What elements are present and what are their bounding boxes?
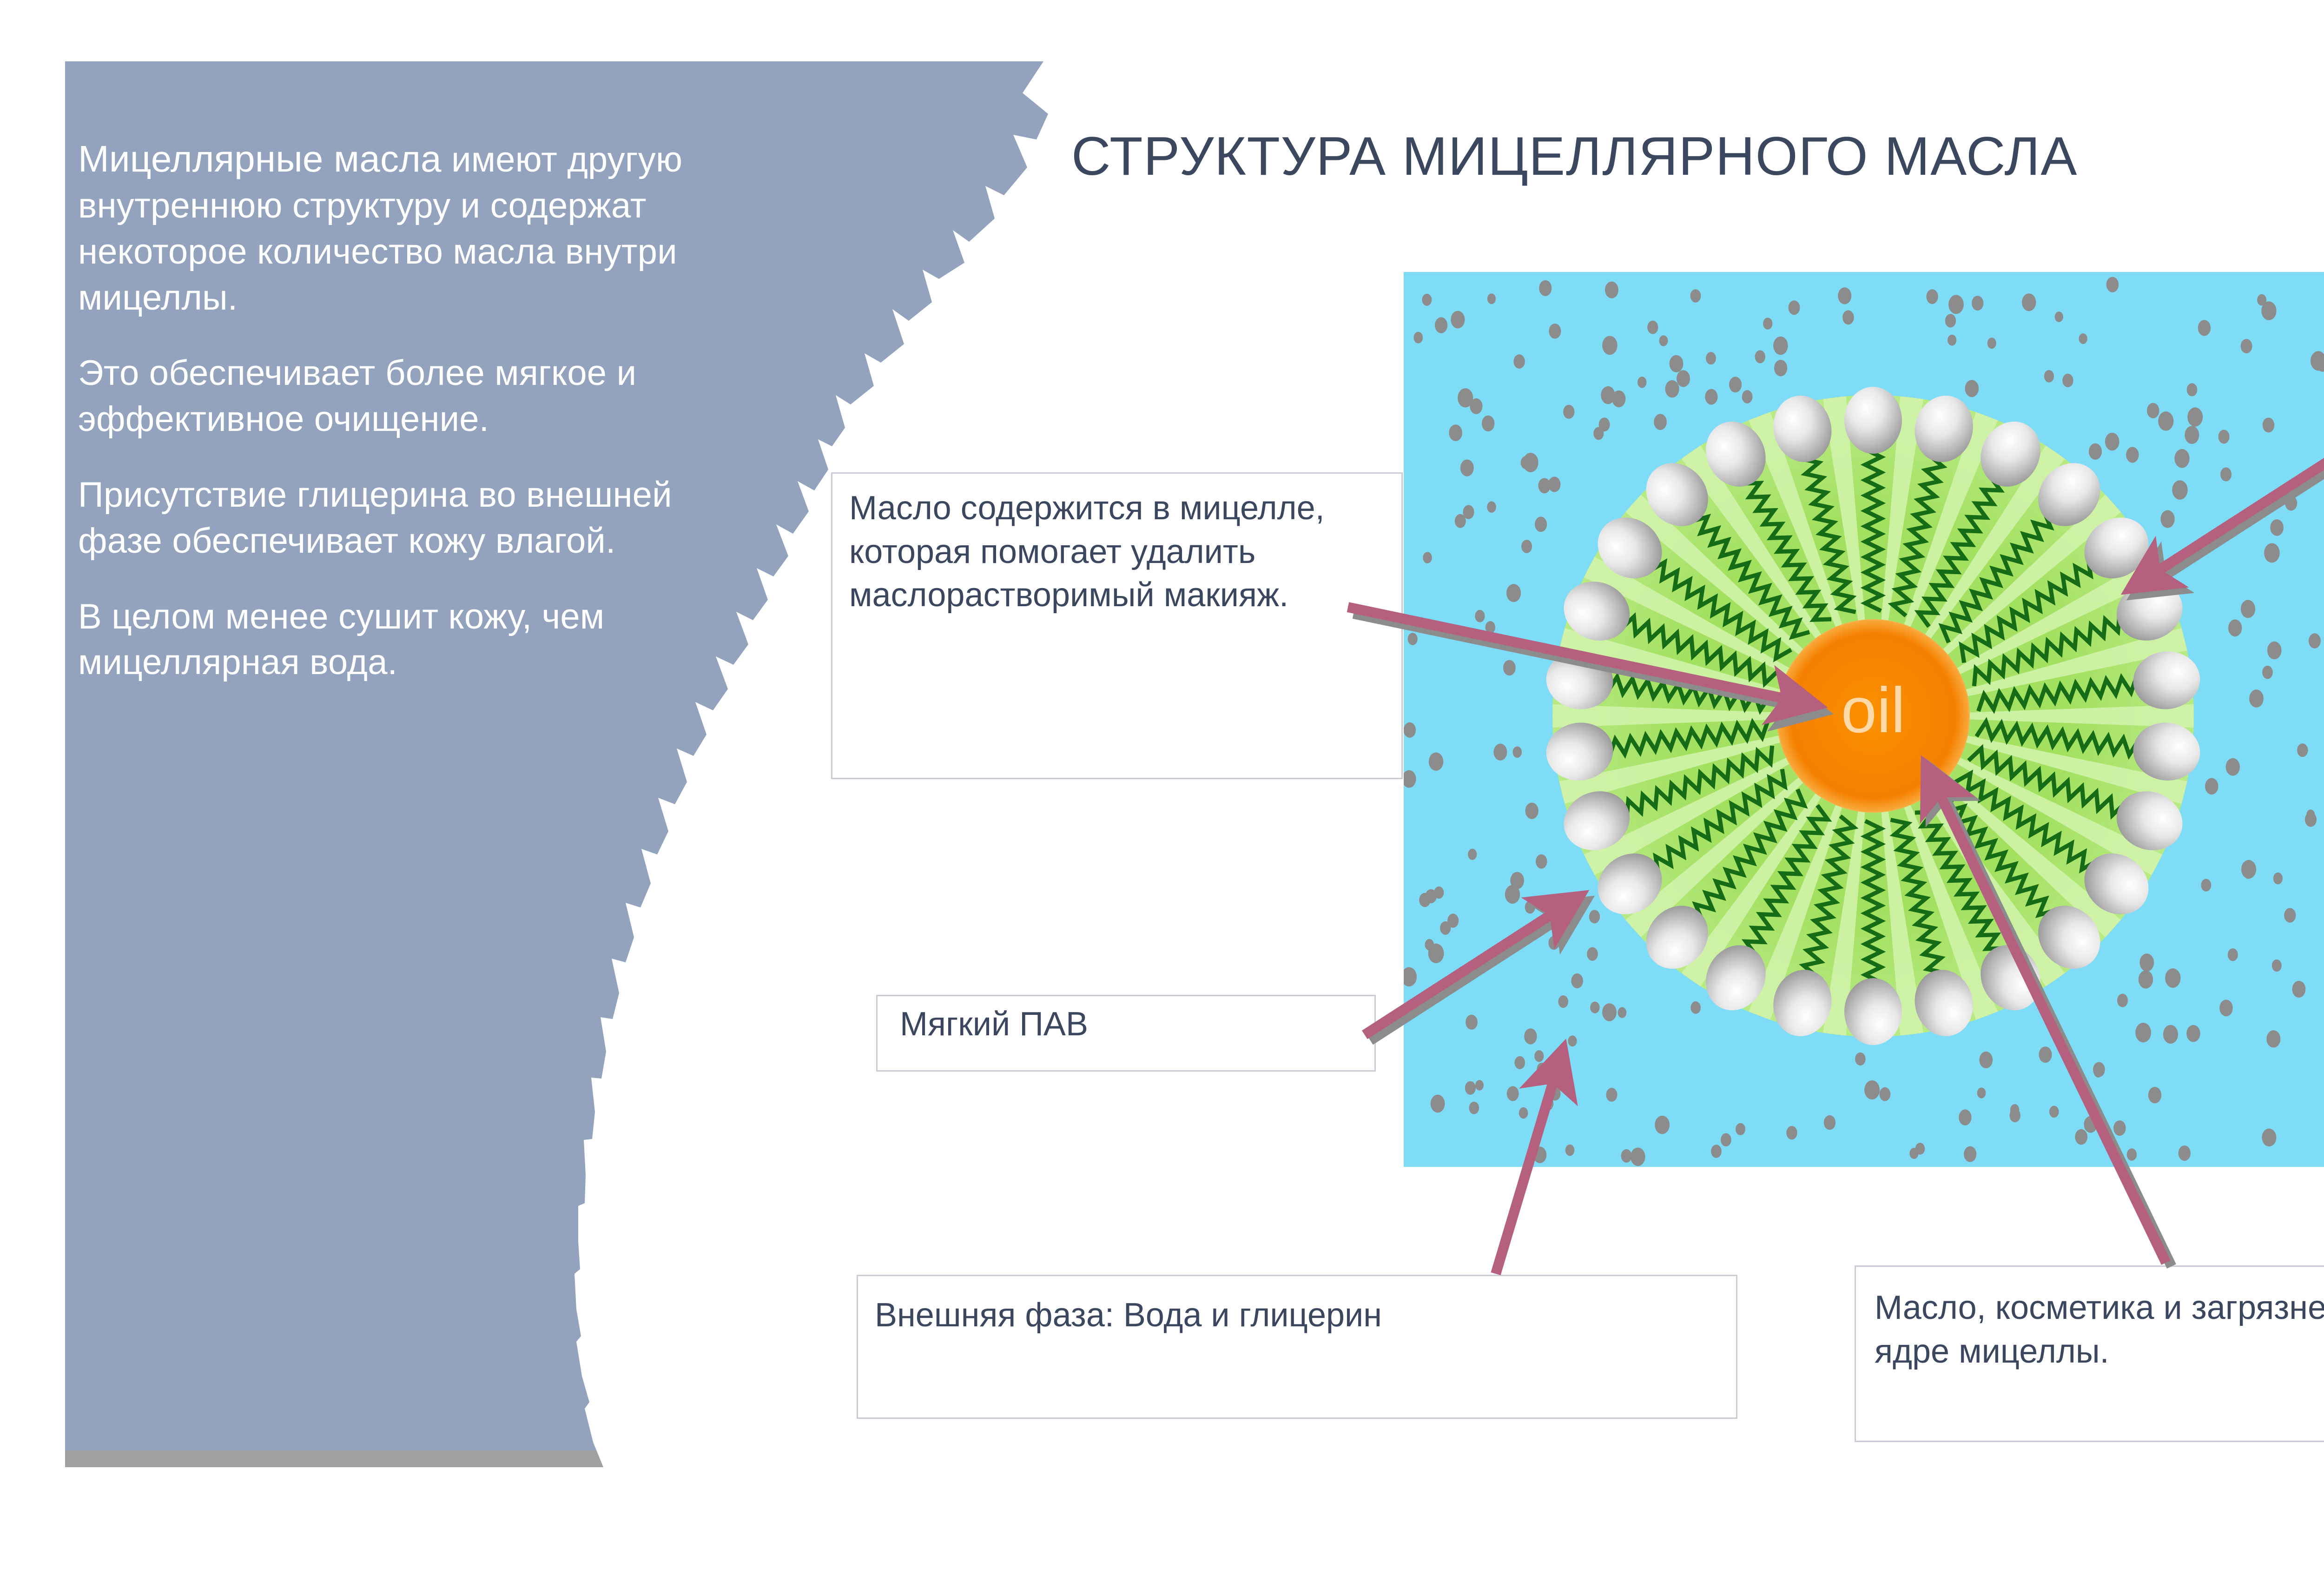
sidebar-paragraph-4: В целом менее сушит кожу, чем мицеллярна…	[78, 594, 729, 686]
micelle-illustration: oil	[1404, 272, 2324, 1167]
sidebar-body-text: Мицеллярные масла имеют другую внутренню…	[78, 135, 729, 686]
callout-mild-surfactant-text: Мягкий ПАВ	[900, 1007, 1352, 1041]
callout-outer-phase-text: Внешняя фаза: Вода и глицерин	[875, 1298, 1719, 1332]
callout-trapped-in-core[interactable]: Масло, косметика и загрязнения задержива…	[1855, 1265, 2324, 1442]
page-title: СТРУКТУРА МИЦЕЛЛЯРНОГО МАСЛА	[1071, 125, 2324, 187]
sidebar-paragraph-3: Присутствие глицерина во внешней фазе об…	[78, 472, 729, 564]
micelle-diagram-svg: oil	[1404, 272, 2324, 1167]
callout-outer-phase[interactable]: Внешняя фаза: Вода и глицерин	[857, 1275, 1737, 1419]
sidebar-paragraph-1: Мицеллярные масла имеют другую внутренню…	[78, 135, 729, 321]
callout-trapped-in-core-text: Масло, косметика и загрязнения задержива…	[1875, 1286, 2324, 1373]
callout-oil-in-micelle[interactable]: Масло содержится в мицелле, которая помо…	[831, 472, 1403, 779]
oil-core-label: oil	[1841, 675, 1905, 746]
callout-oil-in-micelle-text: Масло содержится в мицелле, которая помо…	[849, 487, 1385, 617]
sidebar-lead-phrase: Мицеллярные масла	[78, 138, 442, 179]
callout-mild-surfactant[interactable]: Мягкий ПАВ	[876, 995, 1376, 1072]
sidebar-paragraph-2: Это обеспечивает более мягкое и эффектив…	[78, 351, 729, 443]
